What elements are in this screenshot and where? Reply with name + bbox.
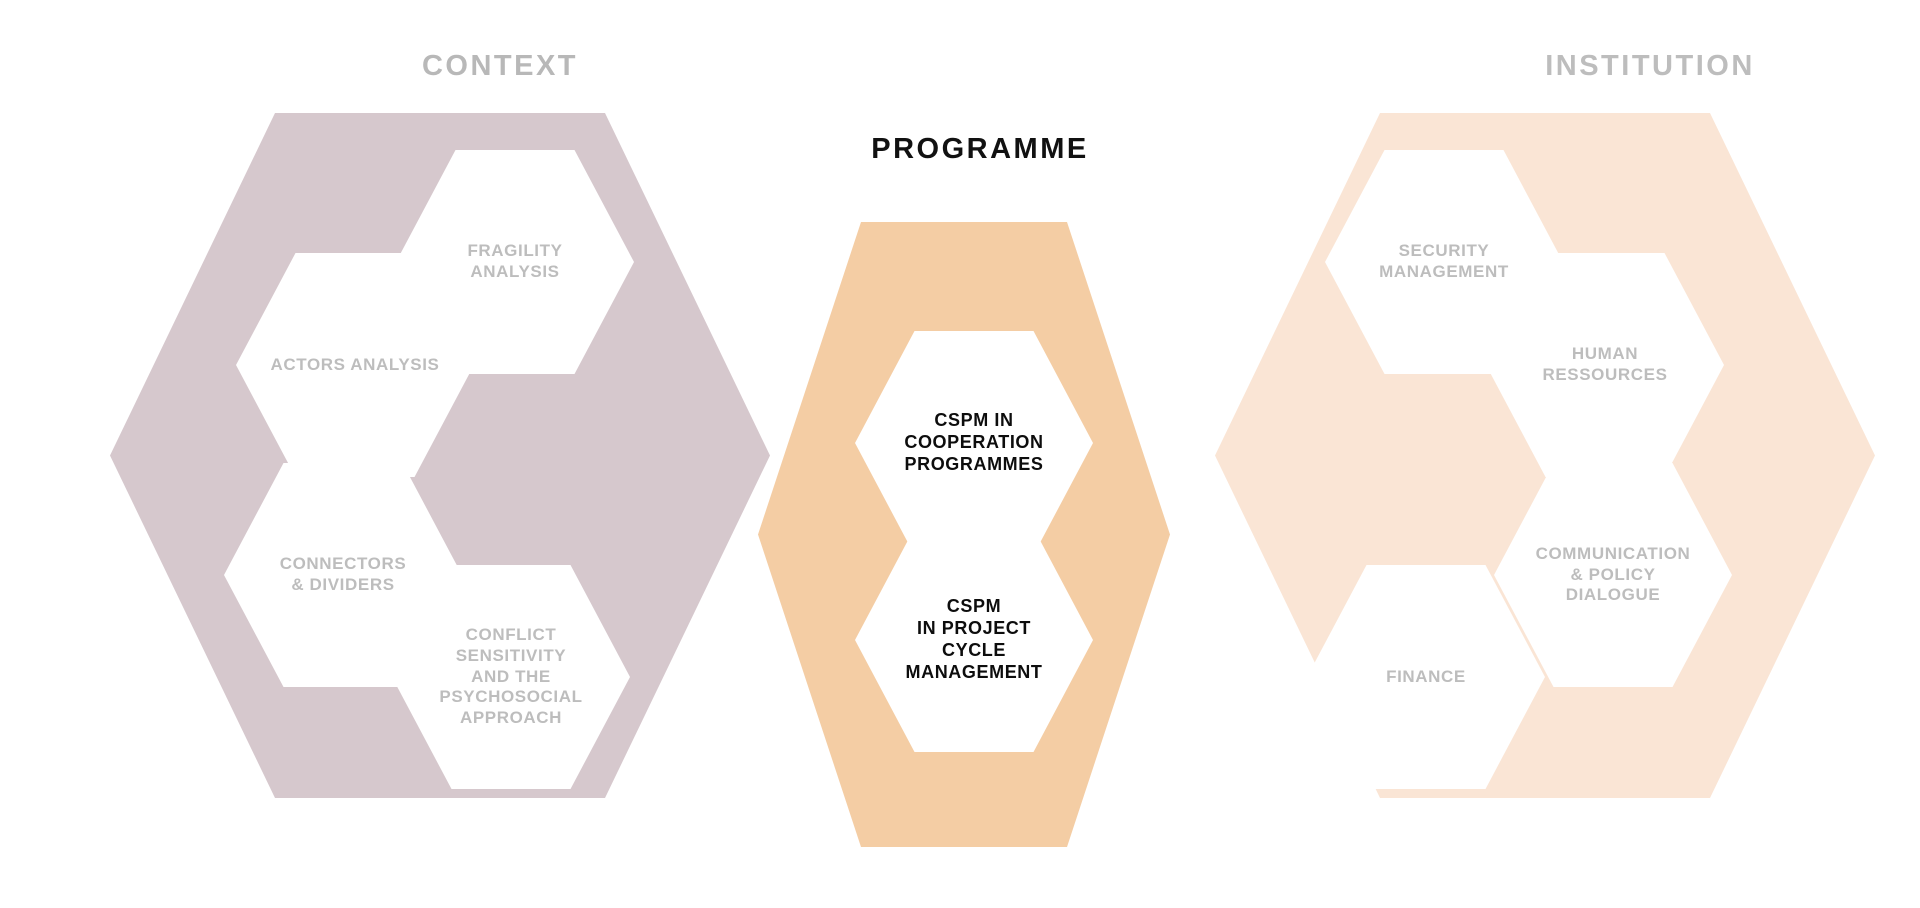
cell-label-communication-policy-dialogue: COMMUNICATION& POLICYDIALOGUE xyxy=(1532,544,1695,606)
cell-label-conflict-sensitivity: CONFLICTSENSITIVITYAND THEPSYCHOSOCIALAP… xyxy=(435,625,586,729)
diagram-canvas: CONTEXT PROGRAMME INSTITUTION FRAGILITYA… xyxy=(0,0,1920,908)
group-heading-institution: INSTITUTION xyxy=(1040,50,1920,83)
group-heading-programme: PROGRAMME xyxy=(600,133,1360,166)
cell-label-security-management: SECURITYMANAGEMENT xyxy=(1375,241,1513,282)
group-heading-context: CONTEXT xyxy=(0,50,1000,83)
cell-label-finance: FINANCE xyxy=(1382,667,1470,688)
cell-label-human-ressources: HUMANRESSOURCES xyxy=(1538,344,1671,385)
cell-label-connectors-dividers: CONNECTORS& DIVIDERS xyxy=(276,554,411,595)
cell-label-cspm-project-cycle-management: CSPMIN PROJECTCYCLEMANAGEMENT xyxy=(902,596,1047,684)
cell-label-actors-analysis: ACTORS ANALYSIS xyxy=(267,355,444,376)
cell-label-fragility-analysis: FRAGILITYANALYSIS xyxy=(463,241,566,282)
cell-label-cspm-cooperation-programmes: CSPM INCOOPERATIONPROGRAMMES xyxy=(900,410,1047,476)
